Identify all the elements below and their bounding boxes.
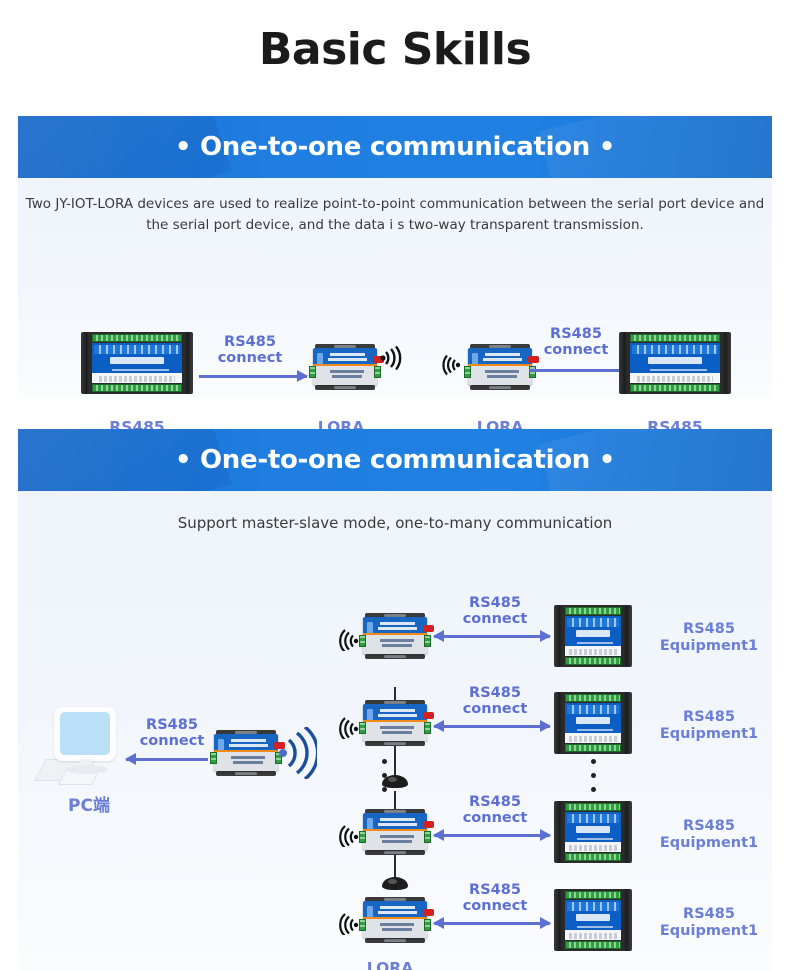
- device-body: [562, 692, 624, 754]
- lora-flange-bottom: [365, 741, 426, 746]
- wifi-signal-icon: [436, 352, 462, 378]
- wifi-signal-icon: [336, 909, 360, 935]
- rs485-device-2: [619, 332, 731, 394]
- lora-flange-bottom: [365, 938, 426, 943]
- section1-body: Two JY-IOT-LORA devices are used to real…: [18, 178, 772, 398]
- lora-terminal-left: [359, 831, 366, 843]
- lora-shell: [214, 734, 278, 771]
- host-connection-label: RS485 connect: [122, 717, 222, 749]
- section-one-to-one: • One-to-one communication • Two JY-IOT-…: [18, 116, 772, 398]
- arrow-head-left: [433, 720, 444, 732]
- lora-shell: [363, 704, 427, 741]
- device-pin-row: [569, 933, 616, 939]
- lora-terminal-right: [424, 831, 431, 843]
- connection-arrow-2: [529, 364, 629, 376]
- arrow-shaft: [434, 922, 550, 925]
- device-body: [562, 801, 624, 863]
- device-faceplate: [92, 343, 182, 383]
- terminal-block-bottom: [565, 941, 621, 949]
- section2-header-bar: • One-to-one communication •: [18, 429, 772, 491]
- lora-spec-text-2: [382, 840, 411, 843]
- row-connection-arrow-4: [434, 917, 550, 929]
- device-spec-line: [577, 729, 613, 731]
- device-pin-row: [637, 376, 713, 382]
- terminal-block-bottom: [565, 744, 621, 752]
- terminal-block-top: [565, 607, 621, 615]
- arrow-head-left: [433, 630, 444, 642]
- lora-shell: [363, 617, 427, 654]
- device-port-row: [567, 618, 619, 627]
- device-pin-row: [569, 649, 616, 655]
- rs485-node-label-4: RS485 Equipment1: [644, 906, 774, 940]
- device-faceplate: [565, 812, 621, 852]
- arrow-head-right: [540, 630, 551, 642]
- lora-flange-bottom: [315, 385, 376, 390]
- device-faceplate: [630, 343, 720, 383]
- device-port-row: [632, 345, 718, 354]
- lora-model-text: [378, 823, 416, 826]
- rs485-node-device-1: [554, 605, 632, 667]
- connection-label-2: RS485 connect: [522, 326, 630, 358]
- rs485-device-1: [81, 332, 193, 394]
- rs485-node-label-1: RS485 Equipment1: [644, 621, 774, 655]
- lora-shell: [363, 901, 427, 938]
- terminal-block-bottom: [565, 853, 621, 861]
- device-pin-row: [569, 736, 616, 742]
- device-spec-line: [577, 642, 613, 644]
- wifi-signal-icon: [336, 713, 360, 739]
- section2-body: Support master-slave mode, one-to-many c…: [18, 491, 772, 970]
- lora-model-text: [378, 911, 416, 914]
- lora-model-text: [483, 358, 521, 361]
- device-body: [627, 332, 723, 394]
- section1-header-text: • One-to-one communication •: [175, 132, 615, 162]
- connection-arrow-1: [199, 370, 307, 382]
- lora-spec-text-1: [380, 639, 415, 642]
- rs485-node-device-2: [554, 692, 632, 754]
- lora-spec-text-2: [487, 375, 516, 378]
- section-one-to-many: • One-to-one communication • Support mas…: [18, 429, 772, 970]
- lora-model-text: [378, 714, 416, 717]
- lora-spec-text-2: [382, 928, 411, 931]
- lora-model-text: [229, 744, 267, 747]
- terminal-block-top: [92, 334, 182, 342]
- lora-terminal-right: [424, 919, 431, 931]
- lora-brand-text: [485, 353, 521, 356]
- device-pin-row: [569, 845, 616, 851]
- lora-spec-text-1: [330, 370, 365, 373]
- rs485-node-device-3: [554, 801, 632, 863]
- wifi-signal-icon: [336, 821, 360, 847]
- device-lower-panel: [92, 373, 182, 383]
- row-connection-arrow-2: [434, 720, 550, 732]
- lora-terminal-right: [424, 722, 431, 734]
- device-lower-panel: [565, 842, 621, 852]
- device-lower-panel: [630, 373, 720, 383]
- lora-group-label: LORA Equipment1: [320, 959, 460, 970]
- dot: [382, 787, 387, 792]
- device-model-label: [576, 826, 610, 833]
- lora-terminal-left: [464, 366, 471, 378]
- lora-antenna-connector: [423, 909, 434, 916]
- device-body: [562, 605, 624, 667]
- terminal-block-bottom: [565, 657, 621, 665]
- terminal-block-top: [565, 891, 621, 899]
- row-connection-label-3: RS485 connect: [441, 794, 549, 826]
- terminal-block-top: [565, 803, 621, 811]
- lora-brand-text: [380, 818, 416, 821]
- lora-terminal-left: [309, 366, 316, 378]
- lora-spec-text-1: [380, 923, 415, 926]
- arrow-shaft: [434, 725, 550, 728]
- arrow-shaft: [126, 758, 208, 761]
- arrow-shaft: [434, 635, 550, 638]
- device-port-row: [567, 902, 619, 911]
- row-connection-label-2: RS485 connect: [441, 685, 549, 717]
- ellipsis-right: [591, 759, 596, 801]
- lora-model-text: [378, 627, 416, 630]
- device-lower-panel: [565, 930, 621, 940]
- lora-antenna-connector: [423, 821, 434, 828]
- terminal-block-top: [630, 334, 720, 342]
- host-connection-arrow: [126, 753, 208, 765]
- lora-terminal-left: [359, 635, 366, 647]
- lora-terminal-left: [359, 722, 366, 734]
- wifi-signal-icon: [277, 727, 317, 779]
- device-body: [562, 889, 624, 951]
- lora-spec-text-1: [231, 756, 266, 759]
- section2-description: Support master-slave mode, one-to-many c…: [18, 491, 772, 534]
- device-model-label: [576, 630, 610, 637]
- terminal-block-top: [565, 694, 621, 702]
- terminal-block-bottom: [92, 384, 182, 392]
- lora-flange-bottom: [470, 385, 531, 390]
- lora-terminal-left: [210, 752, 217, 764]
- ellipsis-left: [382, 759, 387, 801]
- row-connection-label-1: RS485 connect: [441, 595, 549, 627]
- device-port-row: [567, 814, 619, 823]
- arrow-head-left: [433, 829, 444, 841]
- antenna-mast-base-lower: [382, 877, 408, 890]
- device-spec-line: [577, 926, 613, 928]
- section2-header-text: • One-to-one communication •: [175, 445, 615, 475]
- lora-node-device-3: [359, 809, 431, 855]
- section1-header-bar: • One-to-one communication •: [18, 116, 772, 178]
- dot: [591, 773, 596, 778]
- arrow-shaft: [434, 834, 550, 837]
- device-faceplate: [565, 900, 621, 940]
- arrow-head-left: [125, 753, 136, 765]
- dot: [591, 787, 596, 792]
- poster-page: Basic Skills • One-to-one communication …: [0, 0, 790, 970]
- lora-spec-text-2: [233, 761, 262, 764]
- device-spec-line: [112, 369, 170, 371]
- rs485-node-device-4: [554, 889, 632, 951]
- lora-brand-text: [380, 622, 416, 625]
- device-model-label: [576, 914, 610, 921]
- lora-spec-text-1: [485, 370, 520, 373]
- section1-description: Two JY-IOT-LORA devices are used to real…: [18, 178, 772, 236]
- row-connection-arrow-3: [434, 829, 550, 841]
- lora-brand-text: [380, 906, 416, 909]
- device-model-label: [576, 717, 610, 724]
- device-port-row: [567, 705, 619, 714]
- lora-gateway-device: [210, 730, 282, 776]
- rs485-node-label-3: RS485 Equipment1: [644, 818, 774, 852]
- device-spec-line: [577, 838, 613, 840]
- device-body: [89, 332, 185, 394]
- lora-shell: [313, 348, 377, 385]
- lora-brand-text: [330, 353, 366, 356]
- arrow-head-right: [297, 370, 308, 382]
- device-faceplate: [565, 703, 621, 743]
- wifi-signal-icon: [336, 625, 360, 651]
- row-connection-arrow-1: [434, 630, 550, 642]
- device-lower-panel: [565, 646, 621, 656]
- dot: [591, 759, 596, 764]
- arrow-head-right: [540, 720, 551, 732]
- lora-model-text: [328, 358, 366, 361]
- terminal-block-bottom: [630, 384, 720, 392]
- wifi-signal-icon: [379, 345, 405, 371]
- lora-node-device-4: [359, 897, 431, 943]
- lora-spec-text-2: [382, 644, 411, 647]
- lora-antenna-connector: [423, 712, 434, 719]
- dot: [382, 759, 387, 764]
- arrow-shaft: [529, 369, 629, 372]
- device-faceplate: [565, 616, 621, 656]
- lora-node-device-1: [359, 613, 431, 659]
- lora-flange-bottom: [365, 850, 426, 855]
- lora-flange-bottom: [216, 771, 277, 776]
- device-model-label: [648, 357, 702, 364]
- lora-spec-text-2: [382, 731, 411, 734]
- device-pin-row: [99, 376, 175, 382]
- connection-label-1: RS485 connect: [196, 334, 304, 366]
- lora-terminal-right: [424, 635, 431, 647]
- rs485-node-label-2: RS485 Equipment1: [644, 709, 774, 743]
- pc-terminal-label: PC端: [34, 797, 144, 815]
- row-connection-label-4: RS485 connect: [441, 882, 549, 914]
- device-lower-panel: [565, 733, 621, 743]
- device-spec-line: [650, 369, 708, 371]
- lora-spec-text-1: [380, 726, 415, 729]
- lora-spec-text-2: [332, 375, 361, 378]
- arrow-head-right: [540, 829, 551, 841]
- monitor-screen: [60, 712, 110, 755]
- device-port-row: [94, 345, 180, 354]
- monitor-base: [66, 765, 108, 774]
- page-title: Basic Skills: [0, 24, 790, 75]
- arrow-head-left: [433, 917, 444, 929]
- lora-node-device-2: [359, 700, 431, 746]
- lora-terminal-left: [359, 919, 366, 931]
- lora-flange-bottom: [365, 654, 426, 659]
- arrow-head-right: [540, 917, 551, 929]
- lora-brand-text: [380, 709, 416, 712]
- lora-shell: [363, 813, 427, 850]
- lora-device-1: [309, 344, 381, 390]
- device-model-label: [110, 357, 164, 364]
- arrow-shaft: [199, 375, 307, 378]
- dot: [382, 773, 387, 778]
- lora-spec-text-1: [380, 835, 415, 838]
- lora-brand-text: [231, 739, 267, 742]
